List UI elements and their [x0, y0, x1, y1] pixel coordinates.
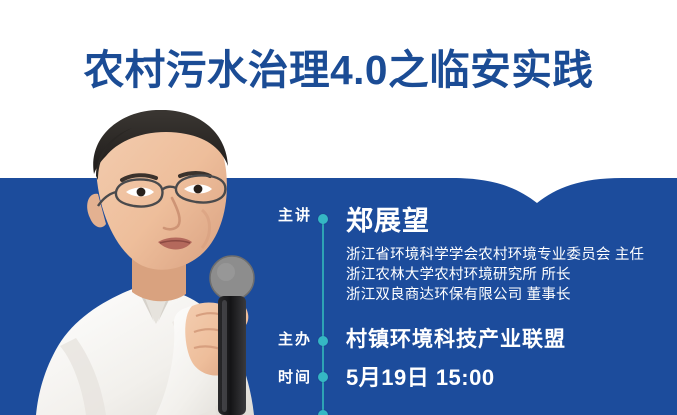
credential-line: 浙江农林大学农村环境研究所 所长	[346, 265, 644, 285]
page-title: 农村污水治理4.0之临安实践	[84, 50, 594, 91]
host-label: 主办	[278, 328, 322, 352]
speaker-photo	[36, 110, 304, 415]
speaker-credentials: 浙江省环境科学学会农村环境专业委员会 主任 浙江农林大学农村环境研究所 所长 浙…	[346, 245, 644, 305]
time-row: 时间 5月19日 15:00	[278, 366, 495, 390]
webinar-poster: 农村污水治理4.0之临安实践 主讲 郑展望 浙江省环境科学学会农村环境专业委员会…	[0, 0, 677, 415]
credential-line: 浙江省环境科学学会农村环境专业委员会 主任	[346, 245, 644, 265]
speaker-body: 郑展望 浙江省环境科学学会农村环境专业委员会 主任 浙江农林大学农村环境研究所 …	[346, 206, 644, 305]
credential-line: 浙江双良商达环保有限公司 董事长	[346, 285, 644, 305]
speaker-name: 郑展望	[346, 206, 644, 236]
timeline-dot-end	[318, 410, 328, 415]
info-block: 主讲 郑展望 浙江省环境科学学会农村环境专业委员会 主任 浙江农林大学农村环境研…	[278, 200, 677, 415]
host-name: 村镇环境科技产业联盟	[346, 328, 566, 352]
time-label: 时间	[278, 366, 322, 390]
host-row: 主办 村镇环境科技产业联盟	[278, 328, 566, 352]
speaker-row: 主讲 郑展望 浙江省环境科学学会农村环境专业委员会 主任 浙江农林大学农村环境研…	[278, 206, 644, 305]
speaker-label: 主讲	[278, 206, 322, 226]
time-value: 5月19日 15:00	[346, 366, 495, 390]
